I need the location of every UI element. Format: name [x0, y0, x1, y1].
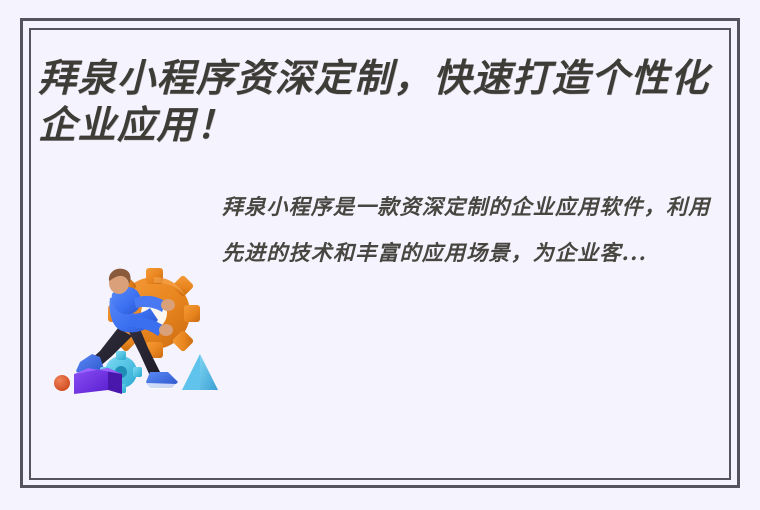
- purple-box-shape: [74, 368, 122, 394]
- blue-pyramid-shape: [182, 354, 218, 390]
- article-summary: 拜泉小程序是一款资深定制的企业应用软件，利用先进的技术和丰富的应用场景，为企业客…: [222, 184, 730, 276]
- shoe-front: [146, 372, 178, 389]
- orange-sphere-shape: [54, 375, 70, 391]
- article-card: 拜泉小程序资深定制，快速打造个性化企业应用！ 拜泉小程序是一款资深定制的企业应用…: [0, 0, 760, 510]
- article-title: 拜泉小程序资深定制，快速打造个性化企业应用！: [38, 54, 728, 148]
- hero-illustration: [46, 250, 226, 402]
- card-content: 拜泉小程序资深定制，快速打造个性化企业应用！ 拜泉小程序是一款资深定制的企业应用…: [34, 32, 726, 476]
